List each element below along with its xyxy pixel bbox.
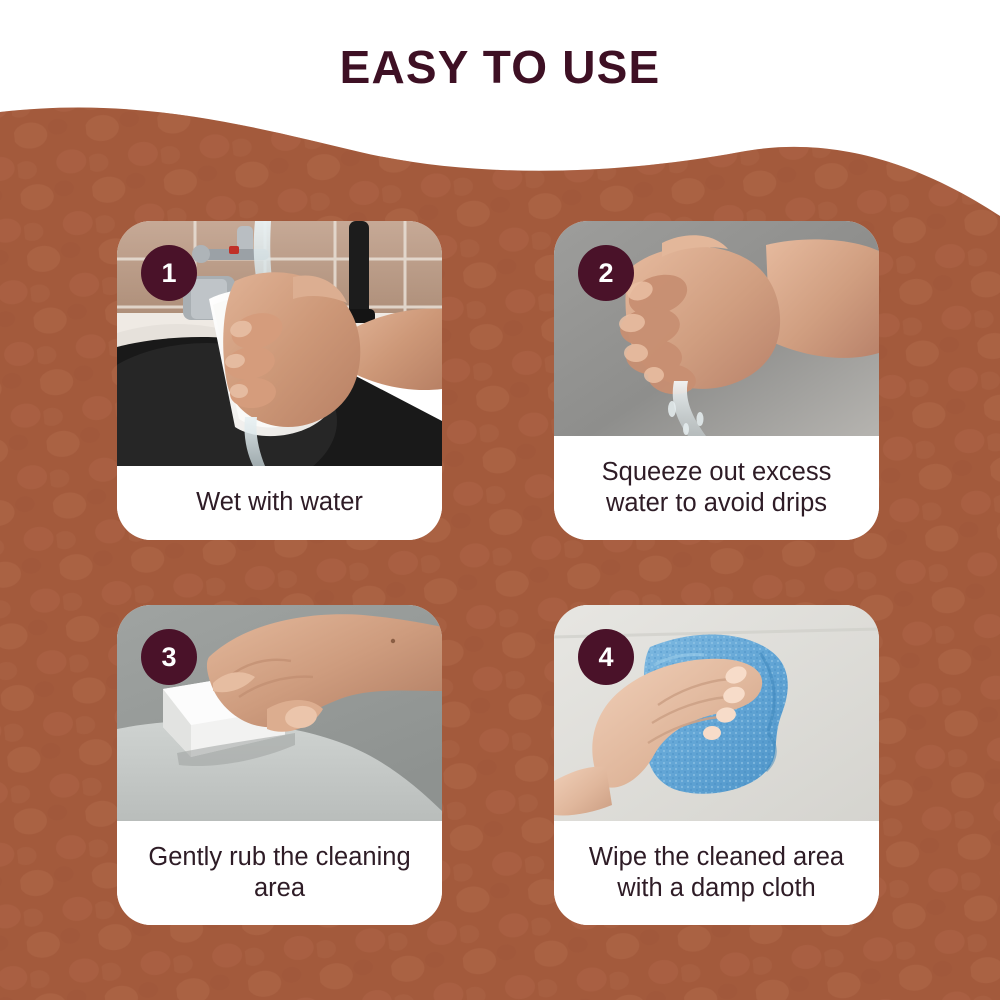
step-number-badge-2: 2 (578, 245, 634, 301)
step-card-4[interactable]: 4 Wipe the cleaned area with a damp clot… (554, 605, 879, 925)
step-card-1[interactable]: 1 Wet with water (117, 221, 442, 540)
step-card-2[interactable]: 2 Squeeze out excess water to avoid drip… (554, 221, 879, 540)
infographic-stage: EASY TO USE (0, 0, 1000, 1000)
step-card-3[interactable]: 3 Gently rub the cleaning area (117, 605, 442, 925)
step-number-badge-4: 4 (578, 629, 634, 685)
step-caption-3: Gently rub the cleaning area (117, 821, 442, 925)
step-caption-1: Wet with water (117, 466, 442, 540)
step-caption-4: Wipe the cleaned area with a damp cloth (554, 821, 879, 925)
step-caption-2: Squeeze out excess water to avoid drips (554, 436, 879, 540)
step-number-badge-1: 1 (141, 245, 197, 301)
step-number-badge-3: 3 (141, 629, 197, 685)
